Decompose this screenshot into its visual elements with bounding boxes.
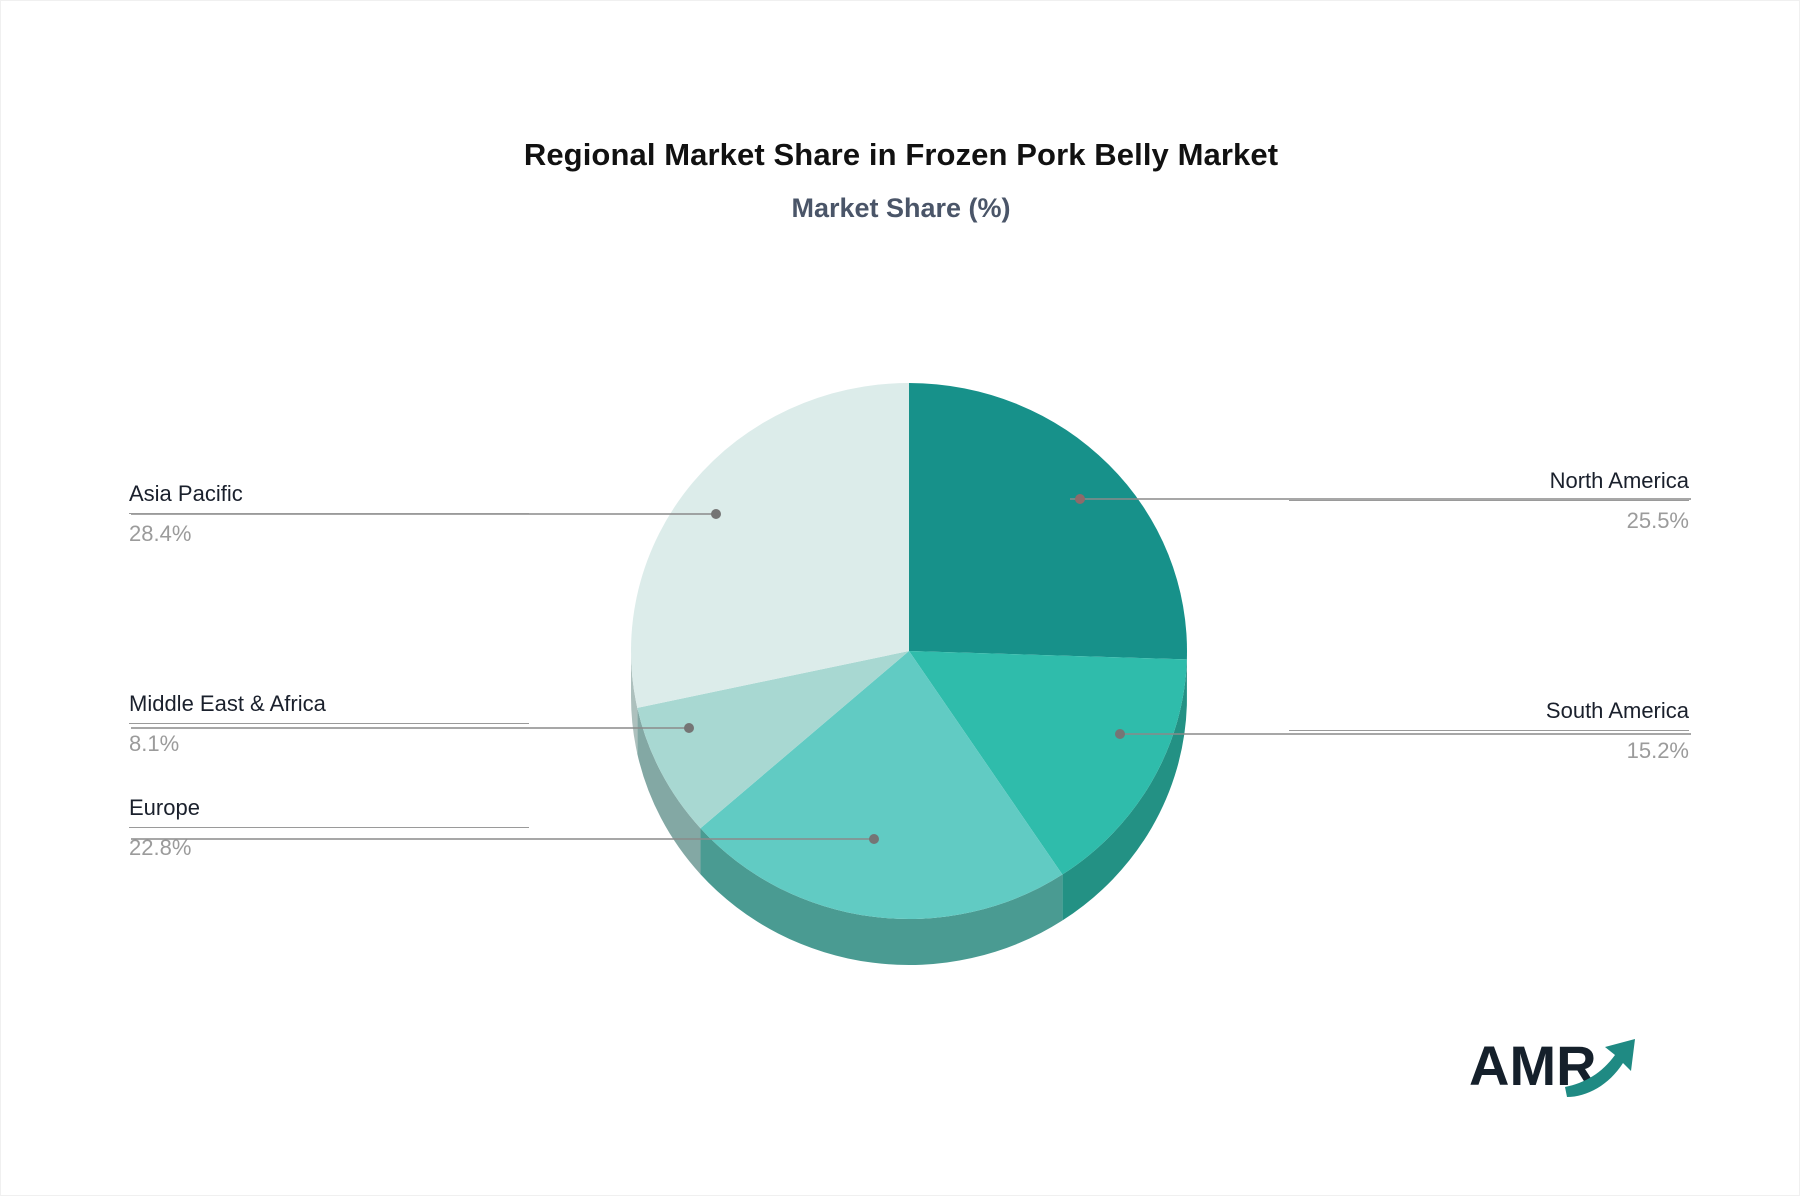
callout-label-europe: Europe bbox=[129, 793, 529, 823]
callout-rule bbox=[1289, 500, 1689, 501]
callout-rule bbox=[129, 827, 529, 828]
callout-value-asia-pacific: 28.4% bbox=[129, 519, 529, 549]
chart-canvas: Regional Market Share in Frozen Pork Bel… bbox=[0, 0, 1800, 1196]
pie-slice-north-america[interactable]: North America 25.5% bbox=[909, 383, 1187, 659]
callout-label-north-america: North America bbox=[1289, 466, 1689, 496]
callout-south-america: South America 15.2% bbox=[1289, 696, 1689, 766]
callout-label-asia-pacific: Asia Pacific bbox=[129, 479, 529, 509]
callout-asia-pacific: Asia Pacific 28.4% bbox=[129, 479, 529, 549]
callout-label-south-america: South America bbox=[1289, 696, 1689, 726]
chart-subtitle: Market Share (%) bbox=[1, 193, 1800, 224]
callout-europe: Europe 22.8% bbox=[129, 793, 529, 863]
pie-chart: North America 25.5%South America 15.2%Eu… bbox=[561, 351, 1261, 971]
amr-logo-svg: AMR bbox=[1469, 1031, 1649, 1111]
pie-slice-asia-pacific[interactable]: Asia Pacific 28.4% bbox=[631, 383, 909, 708]
amr-logo: AMR bbox=[1469, 1031, 1649, 1111]
pie-top-layer: North America 25.5%South America 15.2%Eu… bbox=[631, 383, 1187, 919]
callout-north-america: North America 25.5% bbox=[1289, 466, 1689, 536]
callout-rule bbox=[1289, 730, 1689, 731]
callout-value-north-america: 25.5% bbox=[1289, 506, 1689, 536]
callout-label-middle-east-africa: Middle East & Africa bbox=[129, 689, 529, 719]
chart-title: Regional Market Share in Frozen Pork Bel… bbox=[1, 137, 1800, 173]
callout-rule bbox=[129, 513, 529, 514]
callout-value-europe: 22.8% bbox=[129, 833, 529, 863]
pie-svg: North America 25.5%South America 15.2%Eu… bbox=[561, 351, 1261, 971]
callout-value-middle-east-africa: 8.1% bbox=[129, 729, 529, 759]
callout-value-south-america: 15.2% bbox=[1289, 736, 1689, 766]
callout-rule bbox=[129, 723, 529, 724]
callout-middle-east-africa: Middle East & Africa 8.1% bbox=[129, 689, 529, 759]
